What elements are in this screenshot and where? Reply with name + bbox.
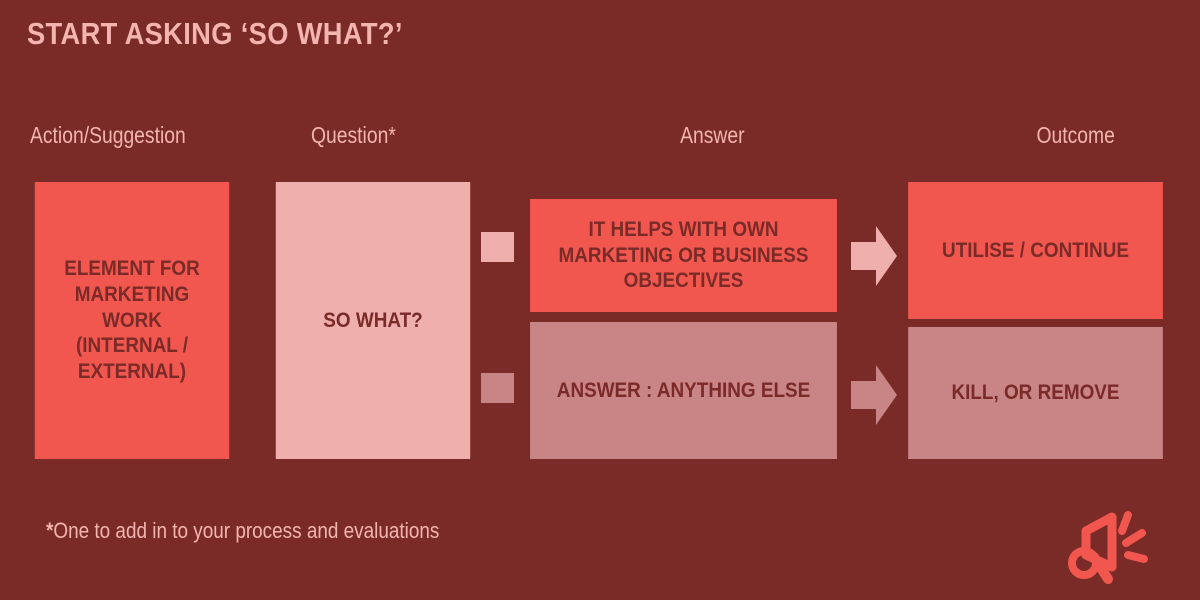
question-box: SO WHAT? <box>276 182 470 459</box>
column-header-question: Question* <box>311 122 396 149</box>
outcome-box-negative: KILL, OR REMOVE <box>908 327 1163 459</box>
answer-box-positive: IT HELPS WITH OWN MARKETING OR BUSINESS … <box>530 199 837 312</box>
column-header-action: Action/Suggestion <box>30 122 186 149</box>
column-header-answer: Answer <box>680 122 744 149</box>
footnote: *One to add in to your process and evalu… <box>46 518 439 544</box>
megaphone-icon <box>1068 505 1164 593</box>
page-title: START ASKING ‘SO WHAT?’ <box>27 16 403 52</box>
answer-box-negative: ANSWER : ANYTHING ELSE <box>530 322 837 459</box>
connector-question-to-answer-no <box>481 373 514 403</box>
arrow-right-icon-positive <box>851 224 897 288</box>
footnote-asterisk: * <box>46 518 53 543</box>
connector-question-to-answer-yes <box>481 232 514 262</box>
footnote-text: One to add in to your process and evalua… <box>53 518 439 543</box>
action-box: ELEMENT FOR MARKETING WORK (INTERNAL / E… <box>35 182 229 459</box>
column-header-outcome: Outcome <box>1036 122 1114 149</box>
arrow-right-icon-negative <box>851 363 897 427</box>
outcome-box-positive: UTILISE / CONTINUE <box>908 182 1163 319</box>
